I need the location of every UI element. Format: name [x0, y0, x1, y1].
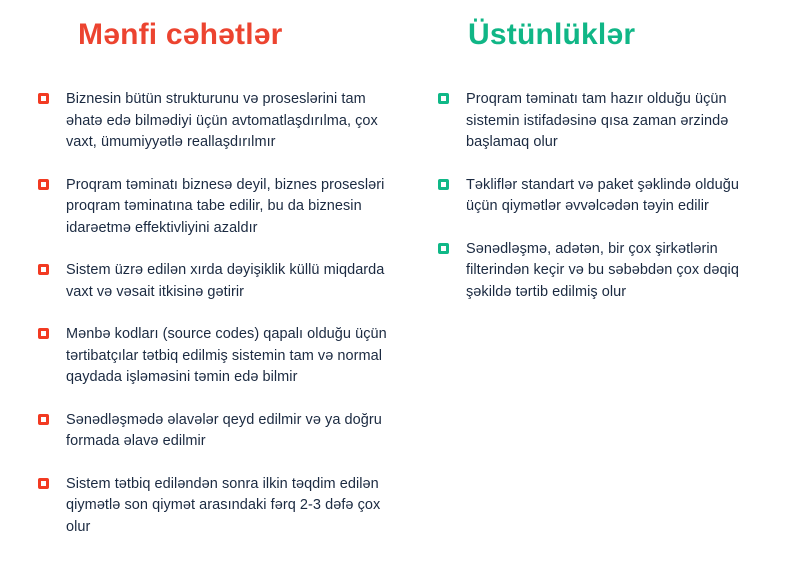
square-outline-icon — [38, 93, 49, 104]
bullet-list-advantages: Proqram təminatı tam hazır olduğu üçün s… — [438, 89, 800, 303]
list-item-text: Mənbə kodları (source codes) qapalı oldu… — [66, 324, 396, 389]
list-item-text: Sistem tətbiq ediləndən sonra ilkin təqd… — [66, 474, 396, 539]
list-item: Proqram təminatı tam hazır olduğu üçün s… — [438, 89, 800, 154]
bullet-list-negatives: Biznesin bütün strukturunu və prosesləri… — [38, 89, 430, 538]
square-outline-icon — [38, 264, 49, 275]
list-item: Təkliflər standart və paket şəklində old… — [438, 175, 800, 218]
list-item: Sənədləşmədə əlavələr qeyd edilmir və ya… — [38, 410, 430, 453]
square-outline-icon — [38, 179, 49, 190]
list-item: Sistem üzrə edilən xırda dəyişiklik küll… — [38, 260, 430, 303]
square-outline-icon — [38, 478, 49, 489]
column-negatives: Mənfi cəhətlər Biznesin bütün strukturun… — [0, 0, 430, 538]
list-item: Sistem tətbiq ediləndən sonra ilkin təqd… — [38, 474, 430, 539]
square-outline-icon — [438, 179, 449, 190]
square-outline-icon — [438, 243, 449, 254]
list-item: Mənbə kodları (source codes) qapalı oldu… — [38, 324, 430, 389]
comparison-slide: Mənfi cəhətlər Biznesin bütün strukturun… — [0, 0, 800, 578]
list-item-text: Proqram təminatı tam hazır olduğu üçün s… — [466, 89, 771, 154]
column-advantages: Üstünlüklər Proqram təminatı tam hazır o… — [430, 0, 800, 303]
comparison-columns: Mənfi cəhətlər Biznesin bütün strukturun… — [0, 0, 800, 578]
square-outline-icon — [38, 414, 49, 425]
list-item: Sənədləşmə, adətən, bir çox şirkətlərin … — [438, 239, 800, 304]
column-heading-negatives: Mənfi cəhətlər — [38, 18, 430, 51]
list-item-text: Sənədləşmə, adətən, bir çox şirkətlərin … — [466, 239, 771, 304]
list-item-text: Sistem üzrə edilən xırda dəyişiklik küll… — [66, 260, 396, 303]
square-outline-icon — [438, 93, 449, 104]
list-item: Biznesin bütün strukturunu və prosesləri… — [38, 89, 430, 154]
list-item-text: Sənədləşmədə əlavələr qeyd edilmir və ya… — [66, 410, 396, 453]
list-item-text: Təkliflər standart və paket şəklində old… — [466, 175, 771, 218]
list-item-text: Biznesin bütün strukturunu və prosesləri… — [66, 89, 396, 154]
list-item: Proqram təminatı biznesə deyil, biznes p… — [38, 175, 430, 240]
column-heading-advantages: Üstünlüklər — [438, 18, 800, 51]
list-item-text: Proqram təminatı biznesə deyil, biznes p… — [66, 175, 396, 240]
square-outline-icon — [38, 328, 49, 339]
